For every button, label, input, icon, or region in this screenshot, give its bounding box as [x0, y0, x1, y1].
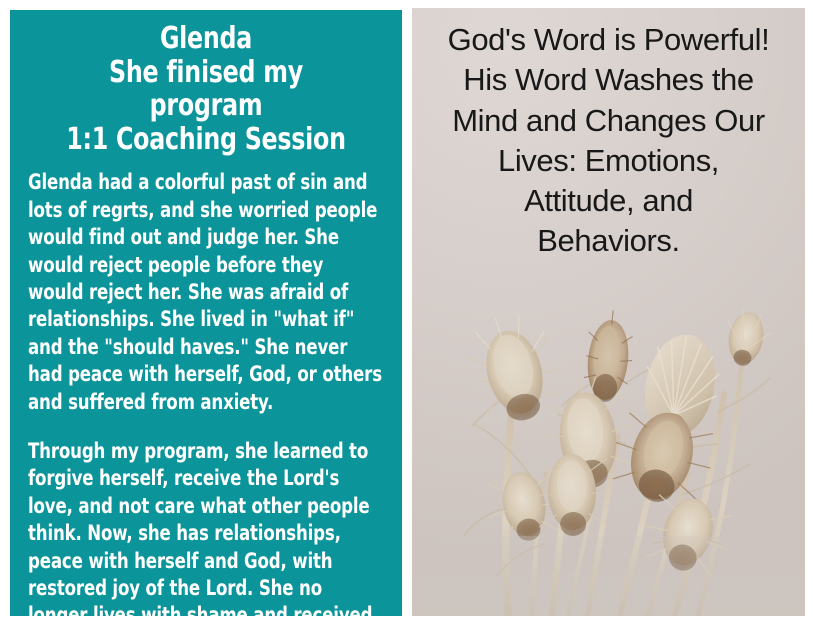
- testimonial-paragraph-2: Through my program, she learned to forgi…: [28, 438, 383, 616]
- testimonial-panel: Glenda She finised my program 1:1 Coachi…: [10, 10, 402, 616]
- testimonial-heading: Glenda She finised my program 1:1 Coachi…: [49, 22, 362, 156]
- testimonial-paragraph-1: Glenda had a colorful past of sin and lo…: [28, 169, 383, 416]
- scripture-heading: God's Word is Powerful! His Word Washes …: [412, 20, 805, 262]
- testimonial-body: Glenda had a colorful past of sin and lo…: [28, 156, 383, 616]
- dried-thistle-photo: [412, 286, 805, 616]
- poster-canvas: Glenda She finised my program 1:1 Coachi…: [0, 0, 813, 627]
- scripture-photo-panel: God's Word is Powerful! His Word Washes …: [412, 8, 805, 616]
